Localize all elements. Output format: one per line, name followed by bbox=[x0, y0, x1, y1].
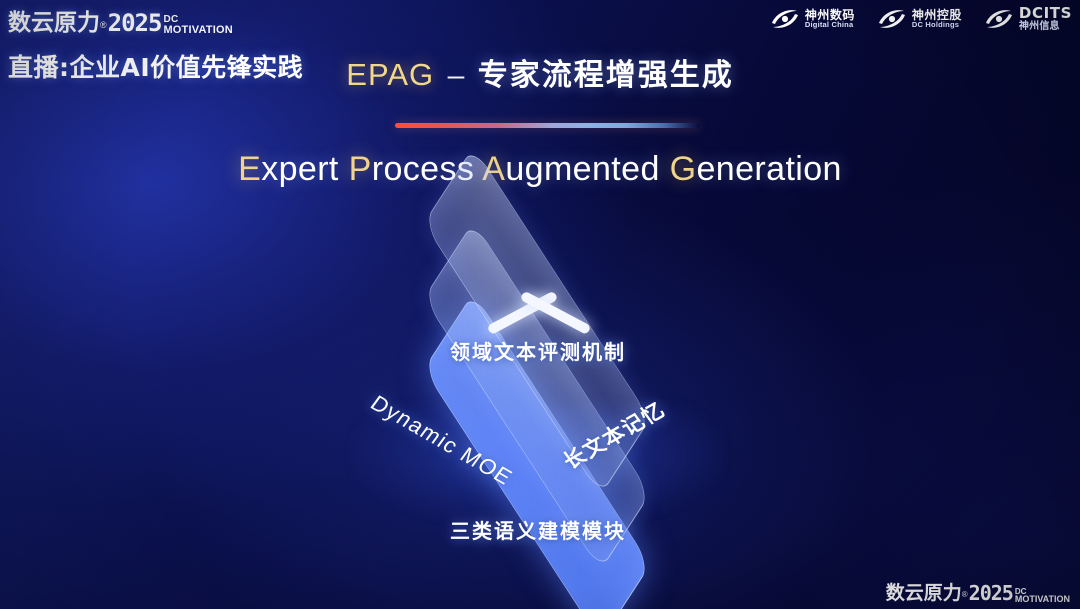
watermark-year: 2025 bbox=[969, 581, 1013, 605]
stack-layer-top-label: 领域文本评测机制 bbox=[313, 336, 763, 365]
registered-mark-icon: ® bbox=[100, 20, 107, 30]
subtitle-cap-e: E bbox=[238, 150, 261, 188]
slide-title-cn: 专家流程增强生成 bbox=[478, 58, 734, 93]
chevron-up-icon bbox=[484, 274, 594, 316]
brand-logo-motivation: MOTIVATION bbox=[163, 25, 232, 35]
partner-name-en: 神州信息 bbox=[1019, 22, 1072, 33]
partner-logo-text: 神州控股 DC Holdings bbox=[912, 9, 962, 29]
slide-canvas: 数云原力 ® 2025 DC MOTIVATION 直播:企业AI价值先锋实践 … bbox=[0, 0, 1080, 609]
subtitle-rest-augmented: ugmented bbox=[505, 150, 659, 188]
partner-name-cn: DCITS bbox=[1019, 6, 1072, 22]
title-divider bbox=[395, 123, 700, 128]
stack-layer-bottom-label: 三类语义建模模块 bbox=[313, 515, 763, 544]
watermark-dcm: DC MOTIVATION bbox=[1015, 588, 1070, 604]
partner-logo-text: 神州数码 Digital China bbox=[805, 9, 855, 29]
partner-logo-text: DCITS 神州信息 bbox=[1019, 6, 1072, 32]
brand-logo-cn: 数云原力 bbox=[8, 3, 100, 37]
partner-logos: 神州数码 Digital China 神州控股 DC Holdings bbox=[770, 6, 1072, 32]
swoosh-icon bbox=[984, 7, 1014, 31]
partner-logo-dcits: DCITS 神州信息 bbox=[984, 6, 1072, 32]
partner-name-en: Digital China bbox=[805, 21, 855, 29]
subtitle-cap-g: G bbox=[670, 150, 697, 188]
watermark-cn: 数云原力 bbox=[886, 578, 962, 605]
subtitle-rest-expert: xpert bbox=[261, 150, 339, 188]
slide-subtitle: Expert Process Augmented Generation bbox=[0, 150, 1080, 189]
live-stream-title: 直播:企业AI价值先锋实践 bbox=[8, 48, 303, 84]
swoosh-icon bbox=[877, 7, 907, 31]
subtitle-cap-p: P bbox=[349, 150, 372, 188]
brand-watermark-bottom-right: 数云原力 ® 2025 DC MOTIVATION bbox=[886, 578, 1070, 605]
swoosh-icon bbox=[770, 7, 800, 31]
stack-layer-top[interactable] bbox=[313, 236, 763, 411]
brand-logo-dcm: DC MOTIVATION bbox=[163, 15, 232, 35]
layered-stack-diagram: 领域文本评测机制 Dynamic MOE 长文本记忆 三类语义建模模块 bbox=[313, 236, 763, 566]
partner-logo-digital-china: 神州数码 Digital China bbox=[770, 7, 855, 31]
registered-mark-icon: ® bbox=[962, 590, 968, 599]
slide-title-latin: EPAG bbox=[346, 57, 434, 92]
subtitle-rest-generation: eneration bbox=[696, 150, 841, 188]
brand-logo-top-left: 数云原力 ® 2025 DC MOTIVATION bbox=[8, 3, 233, 37]
partner-name-en: DC Holdings bbox=[912, 21, 962, 29]
partner-logo-dc-holdings: 神州控股 DC Holdings bbox=[877, 7, 962, 31]
brand-logo-year: 2025 bbox=[108, 9, 162, 37]
slide-title-dash: – bbox=[448, 59, 465, 92]
watermark-motivation: MOTIVATION bbox=[1015, 595, 1070, 604]
